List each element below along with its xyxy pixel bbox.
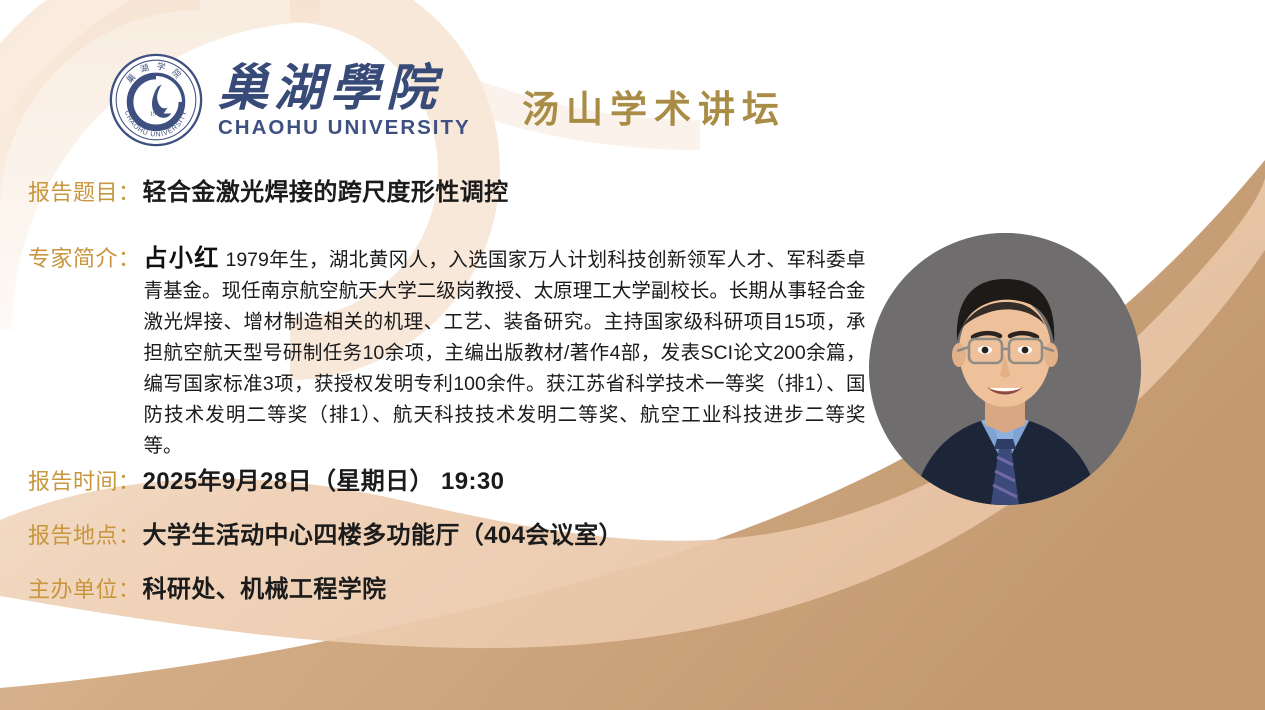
speaker-bio-text: 1979年生，湖北黄冈人，入选国家万人计划科技创新领军人才、军科委卓青基金。现任… (144, 249, 866, 457)
report-title-row: 报告题目： 轻合金激光焊接的跨尺度形性调控 (28, 177, 509, 209)
svg-text:1977: 1977 (150, 110, 162, 117)
report-host-label: 主办单位： (28, 573, 141, 607)
banner-main-title: 汤山学术讲坛 (522, 79, 786, 133)
university-seal-icon: 1977 CHAOHU UNIVERSITY 巢湖学院 (108, 52, 204, 148)
report-place-row: 报告地点： 大学生活动中心四楼多功能厅（404会议室） (28, 519, 623, 553)
report-title-label: 报告题目： (28, 177, 141, 209)
speaker-portrait (869, 233, 1141, 505)
report-time-value: 2025年9月28日（星期日） 19:30 (143, 465, 505, 499)
speaker-name: 占小红 (144, 245, 220, 272)
university-name-cn: 巢湖學院 (218, 62, 442, 115)
report-time-row: 报告时间： 2025年9月28日（星期日） 19:30 (28, 465, 504, 499)
lecture-poster: 1977 CHAOHU UNIVERSITY 巢湖学院 巢湖學院 CHAOHU … (0, 0, 1265, 710)
report-host-row: 主办单位： 科研处、机械工程学院 (28, 573, 387, 607)
speaker-bio-row: 专家简介： 占小红 1979年生，湖北黄冈人，入选国家万人计划科技创新领军人才、… (28, 243, 888, 462)
banner-sub-title: 专家学者专场 (855, 85, 1083, 127)
university-logo-block: 1977 CHAOHU UNIVERSITY 巢湖学院 巢湖學院 CHAOHU … (108, 52, 471, 148)
speaker-bio-label: 专家简介： (28, 243, 141, 274)
header-banner: 汤山学术讲坛 专家学者专场 (440, 63, 1265, 149)
university-wordmark: 巢湖學院 CHAOHU UNIVERSITY (218, 62, 471, 140)
report-time-label: 报告时间： (28, 465, 141, 499)
speaker-bio-body: 占小红 1979年生，湖北黄冈人，入选国家万人计划科技创新领军人才、军科委卓青基… (144, 243, 866, 462)
report-place-label: 报告地点： (28, 519, 141, 553)
university-name-en: CHAOHU UNIVERSITY (218, 116, 471, 140)
report-place-value: 大学生活动中心四楼多功能厅（404会议室） (143, 519, 623, 553)
speaker-photo (869, 233, 1141, 505)
report-title-value: 轻合金激光焊接的跨尺度形性调控 (143, 177, 509, 209)
report-host-value: 科研处、机械工程学院 (143, 573, 387, 607)
banner-divider (822, 85, 825, 128)
